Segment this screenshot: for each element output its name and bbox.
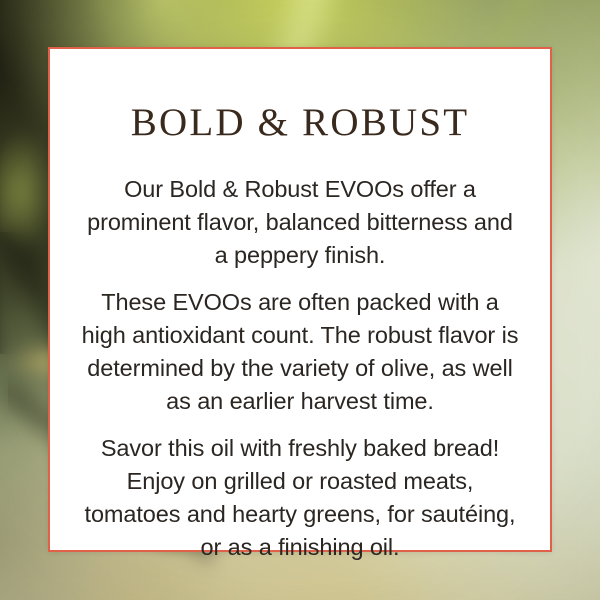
description-paragraph-3: Savor this oil with freshly baked bread!…: [80, 432, 520, 564]
description-paragraph-1: Our Bold & Robust EVOOs offer a prominen…: [80, 173, 520, 272]
page-title: BOLD & ROBUST: [131, 49, 469, 142]
info-card: BOLD & ROBUST Our Bold & Robust EVOOs of…: [48, 47, 552, 552]
image-canvas: BOLD & ROBUST Our Bold & Robust EVOOs of…: [0, 0, 600, 600]
description-paragraph-2: These EVOOs are often packed with a high…: [80, 286, 520, 418]
card-body: Our Bold & Robust EVOOs offer a prominen…: [80, 142, 520, 564]
